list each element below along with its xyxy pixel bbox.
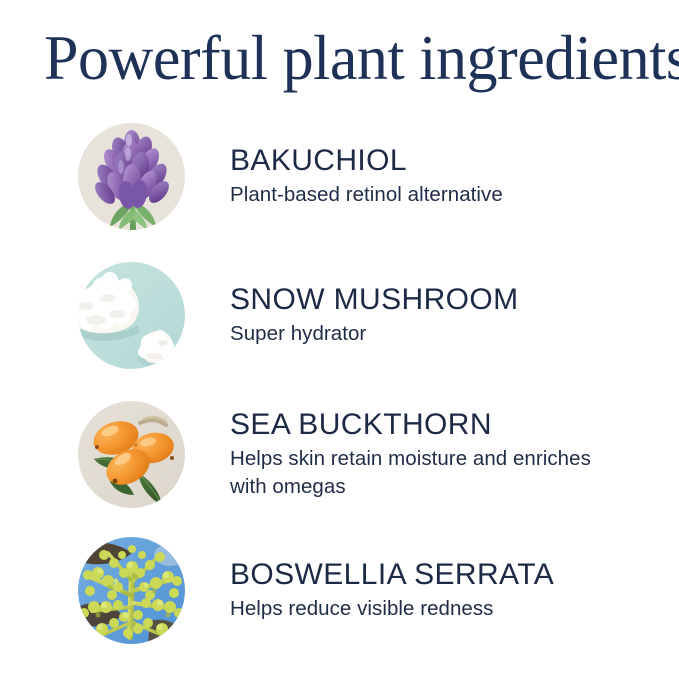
ingredient-text-block: BOSWELLIA SERRATA Helps reduce visible r… bbox=[230, 558, 554, 623]
ingredient-description: Plant-based retinol alternative bbox=[230, 181, 503, 209]
ingredients-poster: Powerful plant ingredients bbox=[0, 0, 679, 679]
ingredient-description: Helps skin retain moisture and enriches … bbox=[230, 445, 600, 500]
ingredient-row: SEA BUCKTHORN Helps skin retain moisture… bbox=[0, 388, 679, 520]
ingredient-row: SNOW MUSHROOM Super hydrator bbox=[0, 249, 679, 381]
ingredient-text-block: SEA BUCKTHORN Helps skin retain moisture… bbox=[230, 408, 600, 501]
ingredient-text-block: BAKUCHIOL Plant-based retinol alternativ… bbox=[230, 144, 503, 209]
ingredient-row: BOSWELLIA SERRATA Helps reduce visible r… bbox=[0, 524, 679, 656]
ingredient-description: Super hydrator bbox=[230, 320, 519, 348]
ingredient-description: Helps reduce visible redness bbox=[230, 595, 554, 623]
ingredient-name: BOSWELLIA SERRATA bbox=[230, 558, 554, 592]
boswellia-serrata-photo bbox=[78, 537, 185, 644]
snow-mushroom-photo bbox=[78, 262, 185, 369]
ingredient-text-block: SNOW MUSHROOM Super hydrator bbox=[230, 283, 519, 348]
ingredient-name: SEA BUCKTHORN bbox=[230, 408, 600, 442]
ingredient-name: SNOW MUSHROOM bbox=[230, 283, 519, 317]
ingredient-row: BAKUCHIOL Plant-based retinol alternativ… bbox=[0, 110, 679, 242]
ingredient-name: BAKUCHIOL bbox=[230, 144, 503, 178]
sea-buckthorn-berries-photo bbox=[78, 401, 185, 508]
page-title: Powerful plant ingredients bbox=[44, 20, 645, 96]
bakuchiol-flower-photo bbox=[78, 123, 185, 230]
